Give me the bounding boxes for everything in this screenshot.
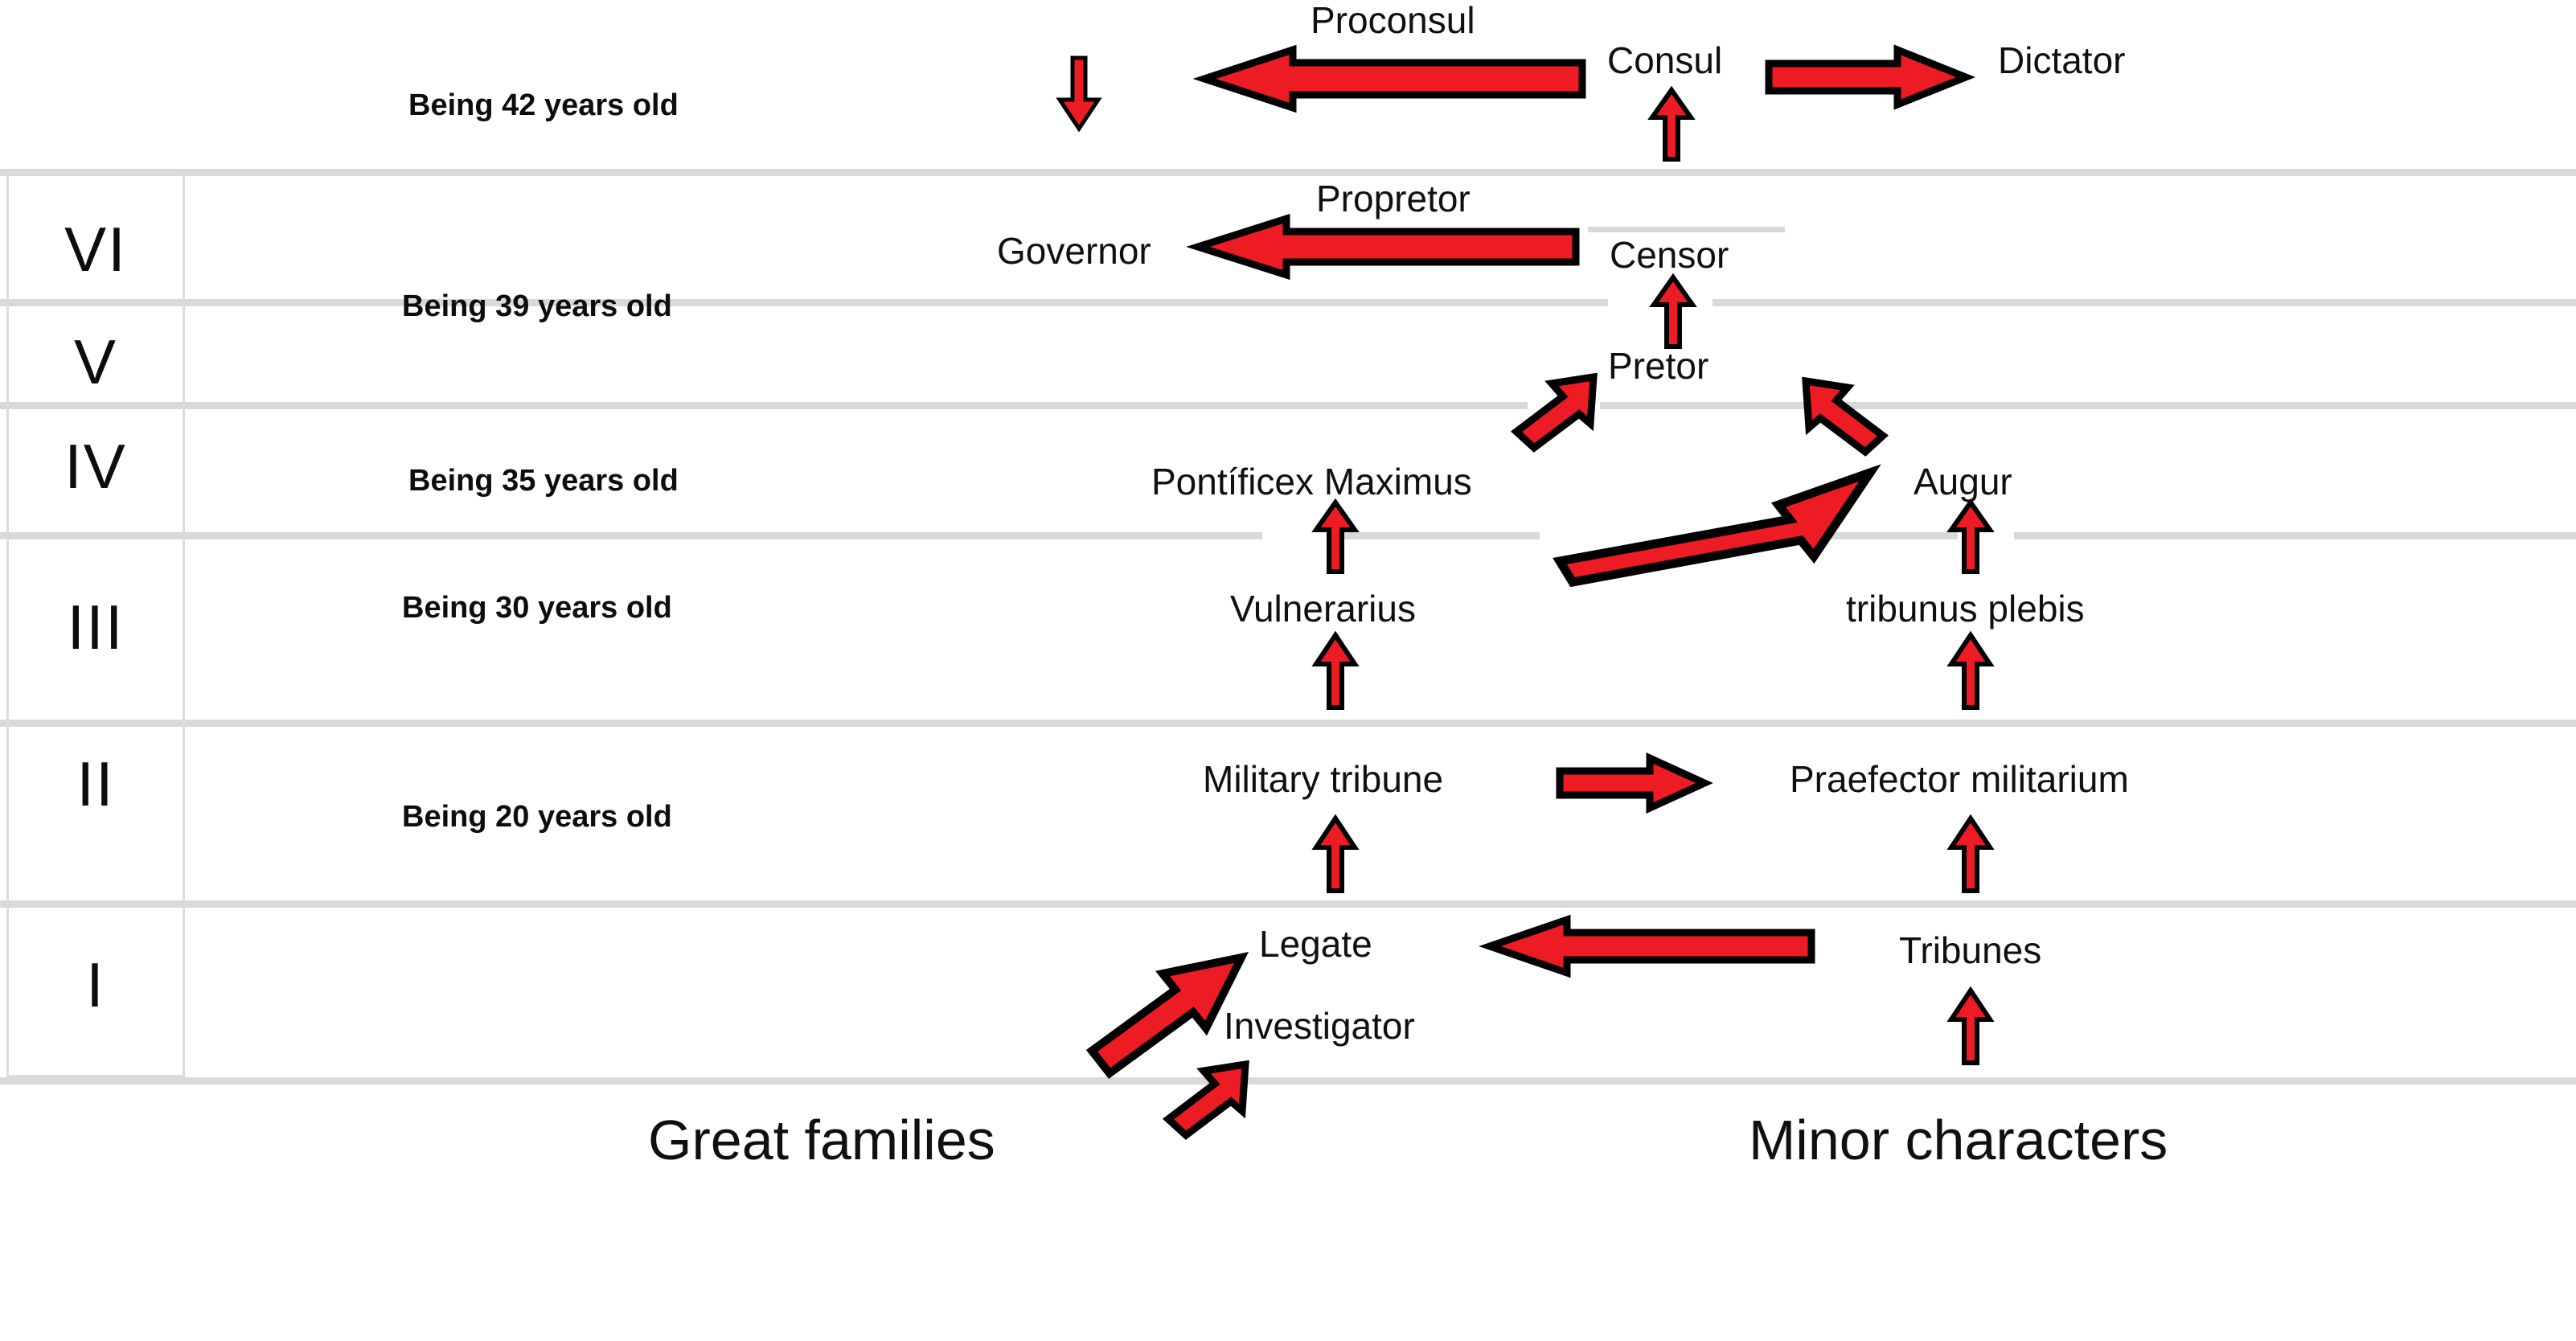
arrow-left-consul-to-proconsul [1204,50,1582,108]
gridline-row-4d [2014,532,2576,539]
level-numeral-iv: IV [6,430,185,503]
arrow-diagonal-to-pretor-left [1510,372,1598,453]
age-label-39: Being 39 years old [402,289,672,324]
gridline-row-3 [0,402,1528,409]
age-label-20: Being 20 years old [402,800,672,835]
role-label-augur: Augur [1914,460,2012,503]
gridline-row-5 [0,720,2576,727]
role-label-proconsul: Proconsul [1311,0,1475,42]
group-caption-great-families: Great families [648,1108,995,1172]
gridline-row-2 [0,299,1608,306]
gridline-row-top [0,169,2576,176]
arrow-diagonal-to-investigator [1162,1060,1250,1140]
gridline-row-2b [1713,299,2576,306]
gridline-row-6 [0,900,2576,908]
age-label-35: Being 35 years old [408,464,679,498]
role-label-tribunes: Tribunes [1899,929,2041,972]
role-label-praefector-militarium: Praefector militarium [1790,757,2129,801]
gridline-row-4b [1339,532,1540,539]
gridline-row-4 [0,532,1262,539]
role-label-tribunus-plebis: tribunus plebis [1846,587,2085,630]
arrow-right-consul-to-dictator [1769,50,1966,105]
gridline-censor-short [1588,227,1785,232]
arrow-right-military-tribune-to-praefector [1560,758,1704,808]
role-label-pretor: Pretor [1608,344,1708,388]
level-numeral-vi: VI [6,213,185,286]
cursus-honorum-diagram: VI V IV III II I Being 42 years old Bein… [0,0,2576,1341]
arrow-up-tribunes-to-praefector [1950,818,1991,892]
arrow-diagonal-to-pretor-right [1801,376,1889,457]
arrow-down-proconsul [1055,58,1103,130]
arrow-up-military-tribune-to-vulnerarius [1315,635,1356,709]
arrow-up-to-tribunes [1950,990,1991,1064]
role-label-censor: Censor [1610,233,1729,277]
arrow-up-praefector-to-tribunus-plebis [1950,635,1991,709]
role-label-legate: Legate [1259,922,1372,966]
age-label-30: Being 30 years old [402,591,672,625]
arrow-up-vulnerarius-to-pontificex [1315,502,1356,573]
age-label-42: Being 42 years old [408,88,679,123]
role-label-propretor: Propretor [1316,177,1471,220]
arrow-up-tribunus-plebis-to-augur [1950,502,1991,573]
arrow-left-propretor-to-governor [1198,219,1576,275]
gridline-row-bottom [0,1077,2576,1085]
role-label-pontificex-maximus: Pontíficex Maximus [1151,460,1472,503]
level-numeral-iii: III [6,591,185,664]
arrow-up-legate-to-military-tribune [1315,818,1356,892]
level-numeral-ii: II [6,748,185,821]
role-label-vulnerarius: Vulnerarius [1230,587,1416,630]
group-caption-minor-characters: Minor characters [1749,1108,2168,1172]
level-numeral-v: V [6,326,185,399]
role-label-investigator: Investigator [1224,1004,1415,1048]
role-label-dictator: Dictator [1998,39,2125,82]
arrow-up-pretor-to-censor [1652,277,1694,348]
role-label-military-tribune: Military tribune [1203,757,1443,801]
arrow-up-to-consul [1651,90,1692,161]
role-label-governor: Governor [997,229,1151,273]
role-label-consul: Consul [1607,39,1722,82]
gridline-row-3b [1600,402,2576,409]
level-numeral-i: I [6,949,185,1022]
arrow-long-diagonal-to-augur [1552,466,1873,587]
arrow-left-tribunes-to-legate [1490,920,1811,973]
